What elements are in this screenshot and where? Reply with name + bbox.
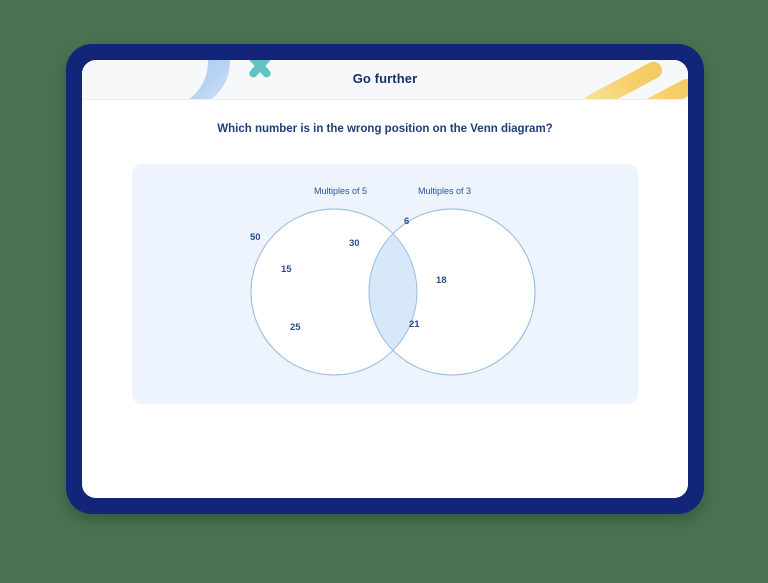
venn-value-18: 18 (436, 275, 447, 286)
venn-diagram-panel: Multiples of 5 Multiples of 3 50 15 25 3… (132, 164, 638, 404)
venn-value-15: 15 (281, 264, 292, 275)
venn-circles-svg (132, 164, 638, 404)
lesson-body: Which number is in the wrong position on… (82, 100, 688, 498)
venn-value-30: 30 (349, 238, 360, 249)
question-prompt: Which number is in the wrong position on… (82, 123, 688, 135)
page-title: Go further (82, 71, 688, 86)
venn-diagram: Multiples of 5 Multiples of 3 50 15 25 3… (132, 164, 638, 404)
venn-set-label-left: Multiples of 5 (314, 186, 367, 196)
venn-value-21: 21 (409, 319, 420, 330)
venn-value-25: 25 (290, 322, 301, 333)
tablet-frame: Go further Which number is in the wrong … (66, 44, 704, 514)
venn-value-50: 50 (250, 232, 261, 243)
tablet-screen: Go further Which number is in the wrong … (82, 60, 688, 498)
venn-set-label-right: Multiples of 3 (418, 186, 471, 196)
venn-value-6: 6 (404, 216, 409, 227)
app-header: Go further (82, 60, 688, 100)
